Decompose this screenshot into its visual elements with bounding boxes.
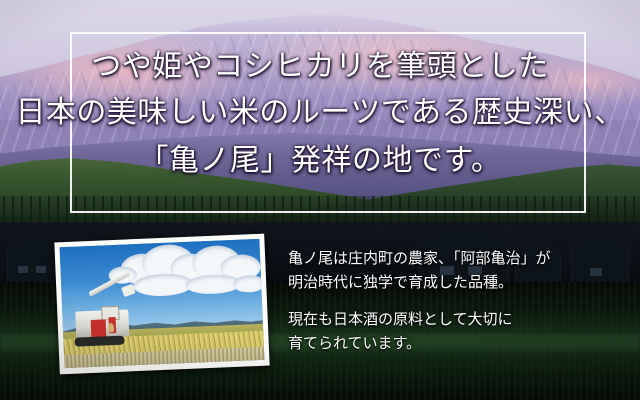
body-line-1: 亀ノ尾は庄内町の農家、「阿部亀治」が	[288, 246, 608, 270]
house-window	[18, 266, 28, 273]
body-text: 亀ノ尾は庄内町の農家、「阿部亀治」が 明治時代に独学で育成した品種。 現在も日本…	[288, 246, 608, 355]
headline-line-2: 日本の美味しい米のルーツである歴史深い、	[0, 90, 640, 136]
combine-harvester	[70, 292, 140, 350]
body-line-4: 育てられています。	[288, 331, 608, 355]
harvest-photo	[60, 239, 265, 368]
photo-card	[54, 234, 269, 375]
harvester-track	[74, 335, 125, 347]
headline-line-3: 「亀ノ尾」発祥の地です。	[0, 138, 640, 184]
headline-line-1: つや姫やコシヒカリを筆頭とした	[0, 44, 640, 90]
house-window	[36, 266, 46, 273]
body-line-2: 明治時代に独学で育成した品種。	[288, 270, 608, 294]
promo-banner: つや姫やコシヒカリを筆頭とした 日本の美味しい米のルーツである歴史深い、 「亀ノ…	[0, 0, 640, 400]
body-paragraph-1: 亀ノ尾は庄内町の農家、「阿部亀治」が 明治時代に独学で育成した品種。	[288, 246, 608, 294]
body-paragraph-2: 現在も日本酒の原料として大切に 育てられています。	[288, 307, 608, 355]
harvester-operator	[107, 323, 113, 332]
headline: つや姫やコシヒカリを筆頭とした 日本の美味しい米のルーツである歴史深い、 「亀ノ…	[0, 44, 640, 184]
body-line-3: 現在も日本酒の原料として大切に	[288, 307, 608, 331]
